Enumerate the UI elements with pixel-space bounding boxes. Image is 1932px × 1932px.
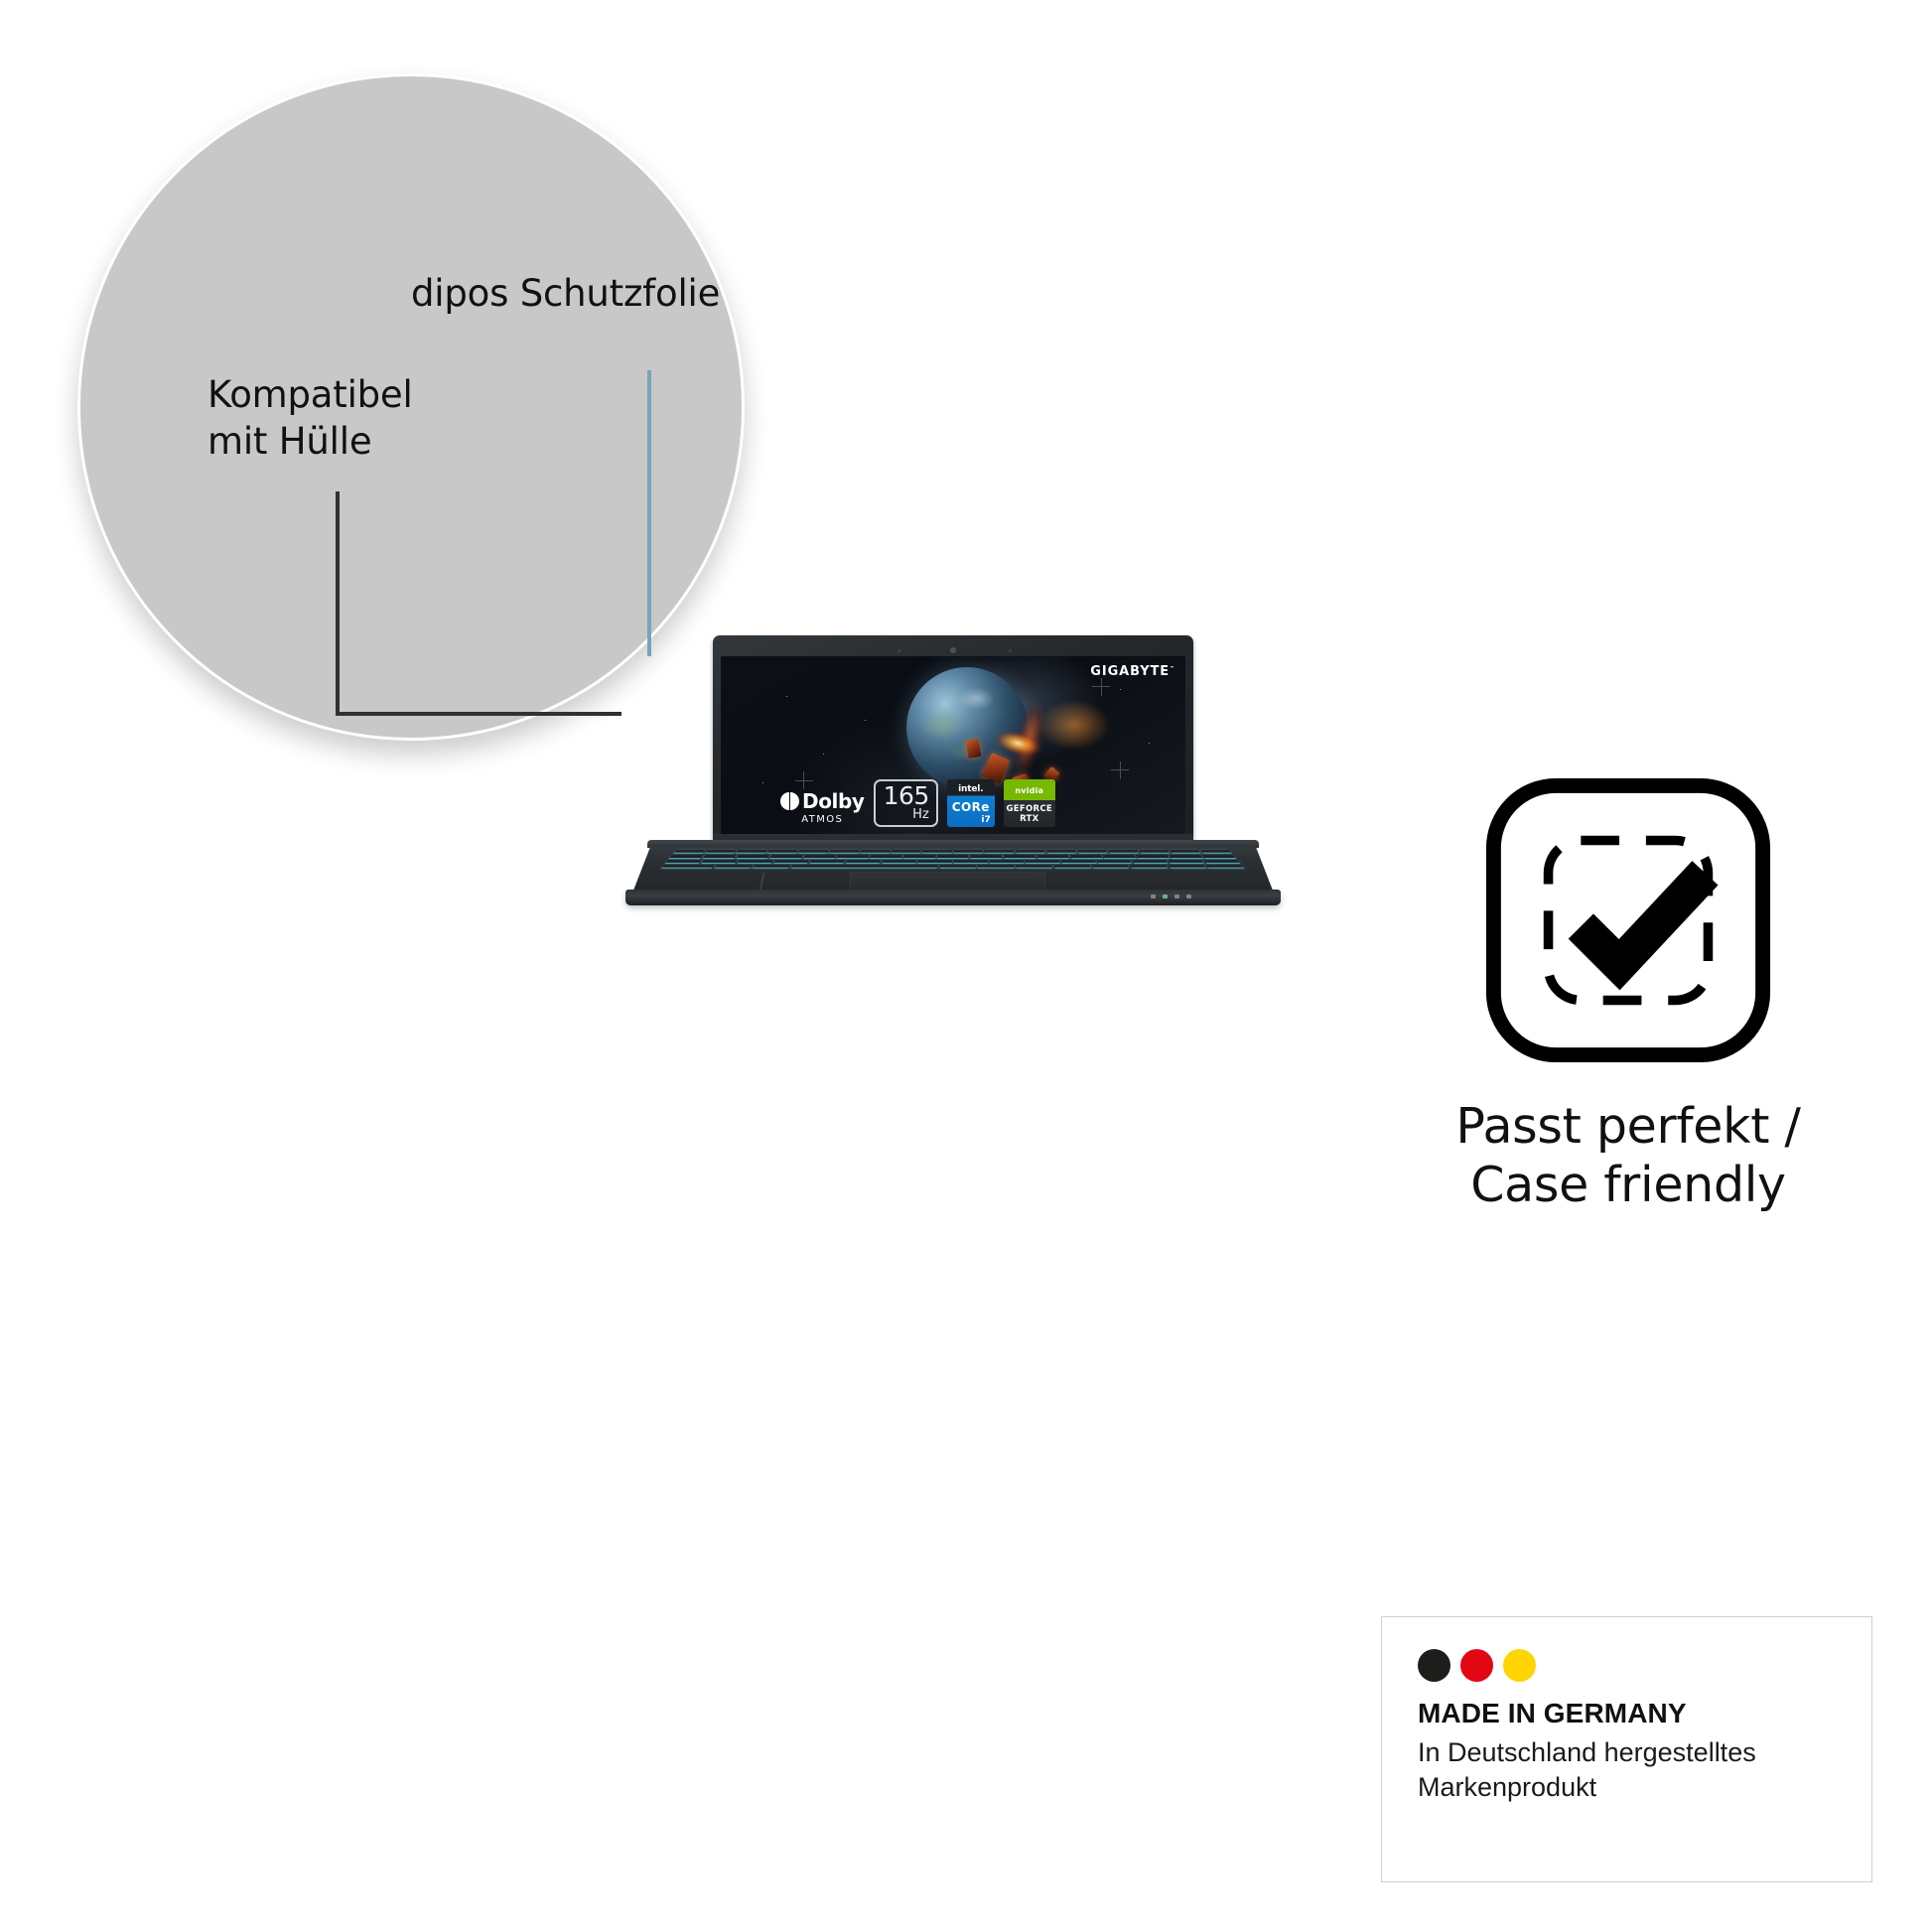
- leader-line-case-compatible: [336, 491, 621, 716]
- dolby-wordmark: Dolby: [802, 791, 865, 811]
- laptop-front-edge: [625, 890, 1281, 905]
- laptop-product-image: GIGABYTE™ Dolby ATMOS 165 Hz: [625, 635, 1281, 903]
- callout-label-screen-protector: dipos Schutzfolie: [411, 271, 720, 318]
- dolby-lockup: Dolby: [780, 791, 865, 811]
- laptop-top-bezel: [721, 643, 1185, 656]
- key-row: [673, 850, 1233, 854]
- webcam-icon: [950, 647, 956, 653]
- icon-outer-rounded-square: [1493, 785, 1762, 1054]
- crosshair-icon: [1111, 761, 1129, 779]
- nvidia-geforce-rtx-badge: nvidia GEFORCE RTX: [1004, 779, 1055, 827]
- laptop-lid: GIGABYTE™ Dolby ATMOS 165 Hz: [713, 635, 1193, 860]
- laptop-base: [625, 840, 1281, 905]
- dolby-atmos-badge: Dolby ATMOS: [780, 791, 865, 827]
- gigabyte-screen-logo-text: GIGABYTE: [1090, 664, 1170, 679]
- laptop-screen: GIGABYTE™ Dolby ATMOS 165 Hz: [721, 656, 1185, 837]
- flag-dot-red: [1460, 1649, 1493, 1682]
- refresh-rate-unit: Hz: [912, 809, 929, 821]
- backlit-keyboard: [661, 850, 1245, 869]
- case-friendly-check-icon: [1480, 772, 1776, 1068]
- icon-checkmark: [1581, 873, 1705, 964]
- intel-tier-text: i7: [981, 815, 990, 825]
- magnifier-callout-circle: dipos Schutzfolie Kompatibel mit Hülle: [77, 73, 745, 741]
- activity-led-icon: [1163, 895, 1168, 898]
- star-speck: [865, 720, 866, 721]
- microphone-dot-right: [1009, 649, 1012, 652]
- star-speck: [823, 754, 824, 755]
- star-speck: [786, 696, 787, 697]
- flag-dot-black: [1418, 1649, 1450, 1682]
- gigabyte-screen-logo: GIGABYTE™: [1090, 664, 1175, 679]
- intel-core-i7-badge: intel. CORe i7: [947, 779, 995, 827]
- dolby-double-d-icon: [780, 792, 799, 810]
- status-led-group: [1151, 895, 1191, 898]
- power-led-icon: [1151, 895, 1156, 898]
- crosshair-icon: [1092, 678, 1110, 696]
- intel-core-text: CORe: [947, 800, 995, 814]
- leader-line-screen-protector: [647, 370, 651, 656]
- made-in-germany-subtitle: In Deutschland hergestelltes Markenprodu…: [1418, 1735, 1871, 1805]
- star-speck: [762, 782, 763, 783]
- case-friendly-caption: Passt perfekt / Case friendly: [1390, 1098, 1866, 1215]
- trademark-symbol: ™: [1170, 666, 1175, 672]
- microphone-dot-left: [897, 649, 900, 652]
- dolby-atmos-sublabel: ATMOS: [801, 814, 843, 825]
- key-row: [669, 855, 1236, 859]
- key-row: [665, 860, 1241, 864]
- nvidia-brand-text: nvidia: [1004, 786, 1055, 795]
- intel-brand-text: intel.: [947, 784, 995, 794]
- nvidia-geforce-text: GEFORCE: [1004, 804, 1055, 814]
- refresh-rate-value: 165: [884, 784, 929, 808]
- laptop-keyboard-deck: [631, 846, 1275, 896]
- battery-led-icon: [1174, 895, 1179, 898]
- flag-dot-gold: [1503, 1649, 1536, 1682]
- star-speck: [1149, 743, 1150, 744]
- german-flag-dots: [1418, 1649, 1871, 1682]
- callout-label-case-compatible: Kompatibel mit Hülle: [207, 372, 413, 465]
- case-friendly-block: Passt perfekt / Case friendly: [1390, 772, 1866, 1215]
- drive-led-icon: [1186, 895, 1191, 898]
- product-feature-graphic: GIGABYTE™ Dolby ATMOS 165 Hz: [0, 0, 1932, 1932]
- key-row: [661, 865, 1245, 869]
- made-in-germany-badge: MADE IN GERMANY In Deutschland hergestel…: [1381, 1616, 1872, 1882]
- made-in-germany-title: MADE IN GERMANY: [1418, 1698, 1871, 1729]
- star-speck: [1120, 689, 1121, 690]
- nvidia-rtx-text: RTX: [1004, 814, 1055, 824]
- refresh-rate-badge: 165 Hz: [874, 779, 938, 827]
- screen-badge-row: Dolby ATMOS 165 Hz intel. CORe i7: [780, 779, 1055, 827]
